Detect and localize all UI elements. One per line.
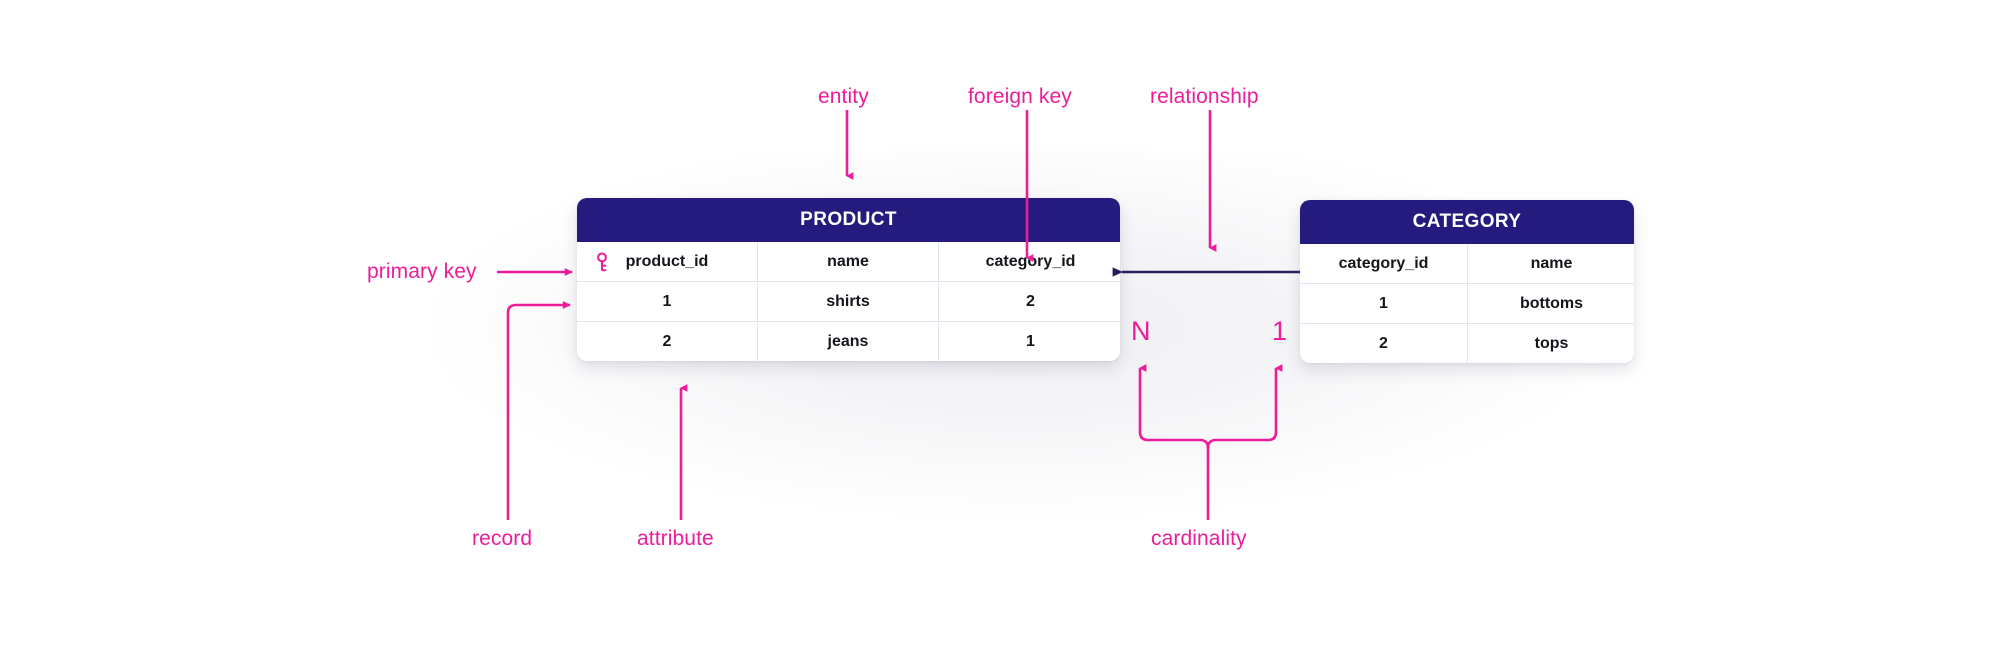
- cell-name: tops: [1468, 324, 1635, 364]
- annotation-attribute: attribute: [637, 527, 714, 551]
- key-icon: [595, 252, 609, 272]
- annotation-record: record: [472, 527, 532, 551]
- annotation-relationship: relationship: [1150, 85, 1259, 109]
- table-row[interactable]: 1 shirts 2: [577, 282, 1120, 322]
- cardinality-one-label: 1: [1272, 316, 1287, 347]
- cell-product-id: 2: [577, 322, 758, 362]
- annotation-cardinality: cardinality: [1151, 527, 1247, 551]
- cell-name: bottoms: [1468, 284, 1635, 324]
- entity-title-product: PRODUCT: [577, 198, 1120, 242]
- cell-category-id: 2: [939, 282, 1121, 322]
- column-header-product-id: product_id: [577, 242, 758, 282]
- table-header-row: category_id name: [1300, 244, 1634, 284]
- er-diagram-canvas: PRODUCT product_id name category_id 1 sh: [0, 0, 2000, 647]
- column-header-category-id: category_id: [1300, 244, 1468, 284]
- entity-table-product[interactable]: PRODUCT product_id name category_id 1 sh: [577, 198, 1120, 361]
- cell-name: jeans: [758, 322, 939, 362]
- table-header-row: product_id name category_id: [577, 242, 1120, 282]
- table-row[interactable]: 2 jeans 1: [577, 322, 1120, 362]
- table-row[interactable]: 1 bottoms: [1300, 284, 1634, 324]
- annotation-foreign-key: foreign key: [968, 85, 1072, 109]
- cardinality-many-label: N: [1131, 316, 1151, 347]
- cell-name: shirts: [758, 282, 939, 322]
- connector-cardinality: [1140, 368, 1276, 520]
- entity-table-category[interactable]: CATEGORY category_id name 1 bottoms 2 to…: [1300, 200, 1634, 363]
- column-header-name: name: [758, 242, 939, 282]
- connector-record: [508, 305, 570, 520]
- cell-category-id: 2: [1300, 324, 1468, 364]
- annotation-primary-key: primary key: [367, 260, 477, 284]
- column-header-name: name: [1468, 244, 1635, 284]
- column-header-category-id: category_id: [939, 242, 1121, 282]
- entity-title-category: CATEGORY: [1300, 200, 1634, 244]
- table-row[interactable]: 2 tops: [1300, 324, 1634, 364]
- annotation-entity: entity: [818, 85, 869, 109]
- cell-product-id: 1: [577, 282, 758, 322]
- entity-grid-product: product_id name category_id 1 shirts 2 2…: [577, 242, 1120, 361]
- cell-category-id: 1: [939, 322, 1121, 362]
- entity-grid-category: category_id name 1 bottoms 2 tops: [1300, 244, 1634, 363]
- column-header-label: product_id: [626, 253, 709, 270]
- cell-category-id: 1: [1300, 284, 1468, 324]
